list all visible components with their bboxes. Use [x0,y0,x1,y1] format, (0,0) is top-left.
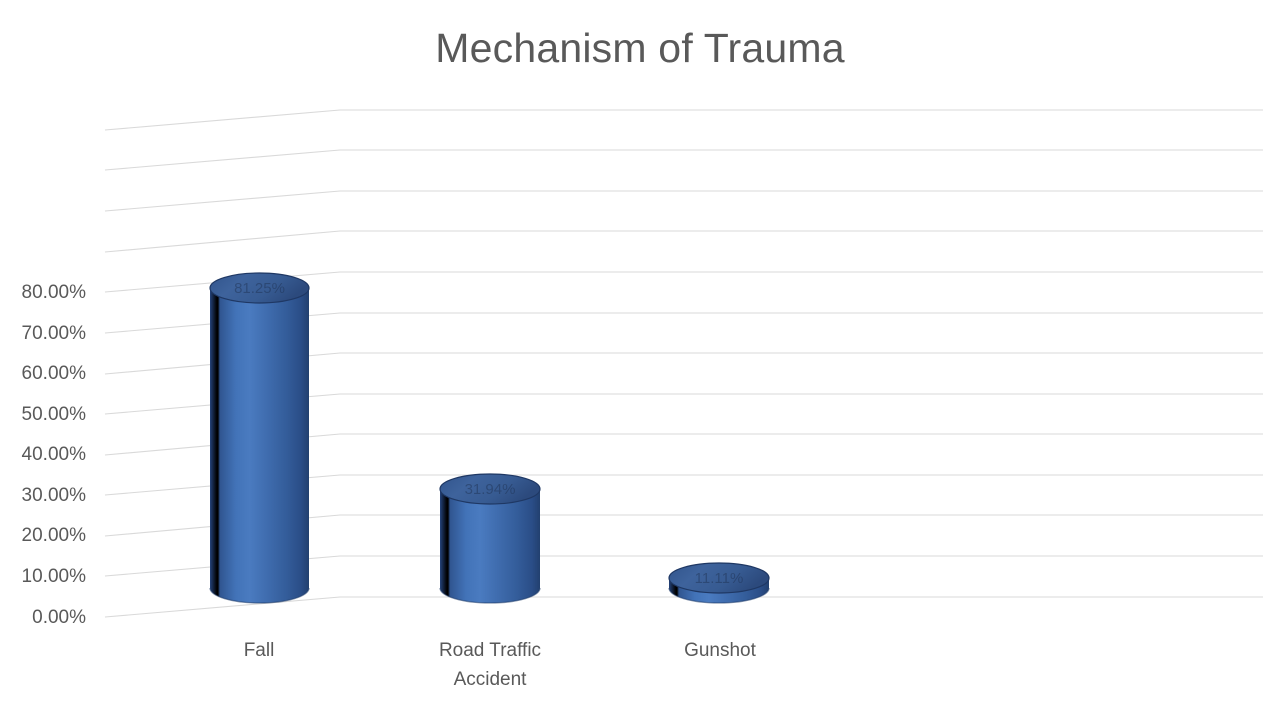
chart-container: Mechanism of Trauma [0,0,1280,720]
x-tick-road-traffic-accident: Road Traffic Accident [390,637,590,694]
x-axis-labels: Fall Road Traffic Accident Gunshot [0,0,1280,720]
x-tick-fall: Fall [159,637,359,666]
x-tick-gunshot: Gunshot [620,637,820,666]
